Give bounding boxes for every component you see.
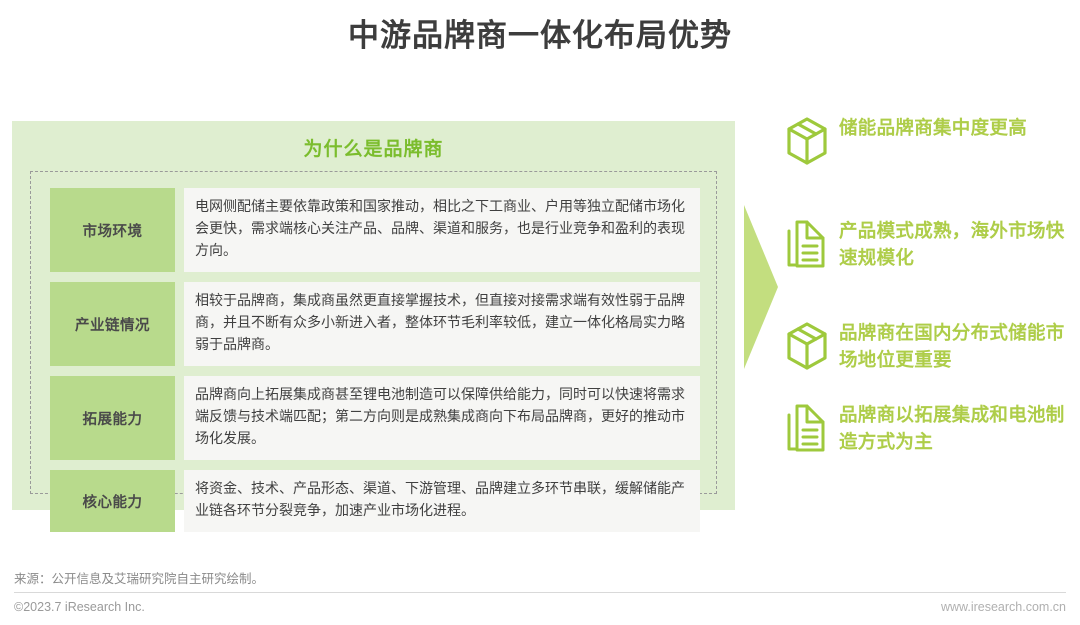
list-item: 产品模式成熟，海外市场快速规模化 (783, 217, 1073, 273)
reason-rows: 市场环境 电网侧配储主要依靠政策和国家推动，相比之下工商业、户用等独立配储市场化… (50, 188, 700, 532)
conclusion-text: 品牌商以拓展集成和电池制造方式为主 (831, 401, 1073, 455)
document-icon (783, 401, 831, 457)
conclusion-text: 产品模式成熟，海外市场快速规模化 (831, 217, 1073, 271)
row-description: 电网侧配储主要依靠政策和国家推动，相比之下工商业、户用等独立配储市场化会更快，需… (184, 188, 700, 272)
table-row: 市场环境 电网侧配储主要依靠政策和国家推动，相比之下工商业、户用等独立配储市场化… (50, 188, 700, 272)
conclusion-text: 储能品牌商集中度更高 (831, 114, 1073, 141)
list-item: 品牌商在国内分布式储能市场地位更重要 (783, 319, 1073, 375)
copyright-text: ©2023.7 iResearch Inc. (14, 600, 145, 614)
list-item: 品牌商以拓展集成和电池制造方式为主 (783, 401, 1073, 457)
row-label-expansion-ability: 拓展能力 (50, 376, 175, 460)
table-row: 核心能力 将资金、技术、产品形态、渠道、下游管理、品牌建立多环节串联，缓解储能产… (50, 470, 700, 532)
box-icon (783, 319, 831, 375)
row-label-market-environment: 市场环境 (50, 188, 175, 272)
row-label-industry-chain: 产业链情况 (50, 282, 175, 366)
conclusion-list: 储能品牌商集中度更高 产品模式成熟，海外市场快速规模化 品牌商在国内分布式储能市 (783, 114, 1073, 483)
row-label-core-ability: 核心能力 (50, 470, 175, 532)
row-description: 将资金、技术、产品形态、渠道、下游管理、品牌建立多环节串联，缓解储能产业链各环节… (184, 470, 700, 532)
footer-divider (14, 592, 1066, 593)
panel-heading: 为什么是品牌商 (12, 134, 735, 161)
website-url: www.iresearch.com.cn (941, 600, 1066, 614)
why-brand-panel: 为什么是品牌商 市场环境 电网侧配储主要依靠政策和国家推动，相比之下工商业、户用… (12, 121, 735, 510)
source-note: 来源：公开信息及艾瑞研究院自主研究绘制。 (14, 568, 264, 587)
document-icon (783, 217, 831, 273)
dashed-container: 市场环境 电网侧配储主要依靠政策和国家推动，相比之下工商业、户用等独立配储市场化… (30, 171, 717, 494)
conclusion-text: 品牌商在国内分布式储能市场地位更重要 (831, 319, 1073, 373)
row-description: 相较于品牌商，集成商虽然更直接掌握技术，但直接对接需求端有效性弱于品牌商，并且不… (184, 282, 700, 366)
page-title: 中游品牌商一体化布局优势 (0, 14, 1080, 58)
table-row: 产业链情况 相较于品牌商，集成商虽然更直接掌握技术，但直接对接需求端有效性弱于品… (50, 282, 700, 366)
row-description: 品牌商向上拓展集成商甚至锂电池制造可以保障供给能力，同时可以快速将需求端反馈与技… (184, 376, 700, 460)
table-row: 拓展能力 品牌商向上拓展集成商甚至锂电池制造可以保障供给能力，同时可以快速将需求… (50, 376, 700, 460)
right-arrow-icon (744, 205, 778, 369)
box-icon (783, 114, 831, 170)
list-item: 储能品牌商集中度更高 (783, 114, 1073, 170)
